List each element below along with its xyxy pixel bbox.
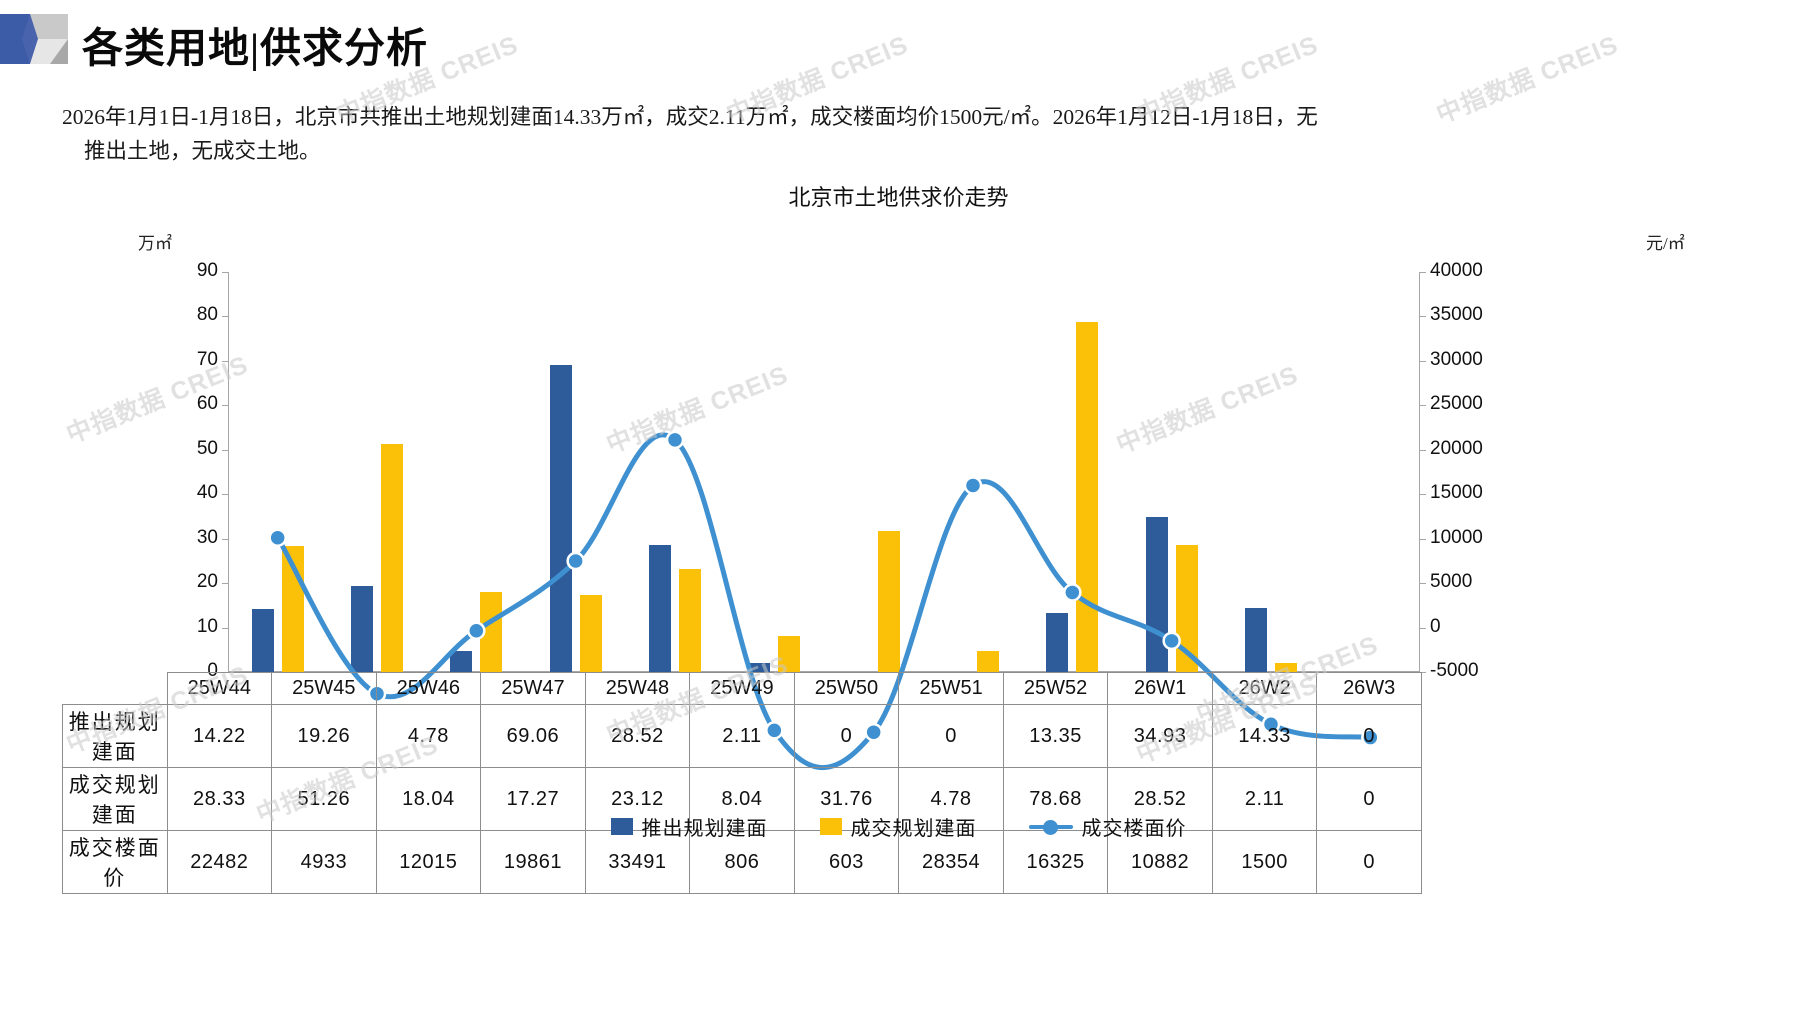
table-week-header: 26W2 [1212, 673, 1317, 705]
right-axis-tickmark [1420, 272, 1426, 273]
table-header-row: 25W4425W4525W4625W4725W4825W4925W5025W51… [63, 673, 1422, 705]
legend-label: 成交规划建面 [851, 812, 977, 841]
right-axis-tick-label: 35000 [1430, 304, 1570, 326]
table-week-header: 25W50 [794, 673, 899, 705]
left-axis-unit: 万㎡ [138, 229, 172, 254]
chart-legend: 推出规划建面成交规划建面成交楼面价 [0, 812, 1797, 841]
table-cell: 69.06 [481, 705, 586, 768]
table-week-header: 25W49 [690, 673, 795, 705]
summary-line-1: 2026年1月1日-1月18日，北京市共推出土地规划建面14.33万㎡，成交2.… [62, 105, 1318, 129]
table-cell: 28.52 [585, 705, 690, 768]
table-cell: 14.22 [167, 705, 272, 768]
table-cell: 4.78 [376, 705, 481, 768]
left-axis-tick-label: 70 [98, 349, 218, 371]
table-week-header: 26W1 [1108, 673, 1213, 705]
left-axis-tick-label: 20 [98, 571, 218, 593]
table-cell: 0 [1317, 705, 1422, 768]
right-axis-tick-label: -5000 [1430, 660, 1570, 682]
right-axis-unit: 元/㎡ [1646, 229, 1685, 254]
legend-item[interactable]: 推出规划建面 [611, 812, 768, 841]
table-week-header: 25W48 [585, 673, 690, 705]
left-axis-tick-label: 30 [98, 527, 218, 549]
legend-swatch-icon [611, 818, 633, 835]
right-axis-tick-label: 25000 [1430, 393, 1570, 415]
table-week-header: 25W46 [376, 673, 481, 705]
legend-label: 成交楼面价 [1082, 812, 1187, 841]
right-axis-tick-label: 30000 [1430, 349, 1570, 371]
table-cell: 13.35 [1003, 705, 1108, 768]
left-axis-tick-label: 90 [98, 260, 218, 282]
left-axis-tick-label: 80 [98, 304, 218, 326]
table-week-header: 26W3 [1317, 673, 1422, 705]
right-axis-tick-label: 40000 [1430, 260, 1570, 282]
table-cell: 0 [899, 705, 1004, 768]
table-week-header: 25W47 [481, 673, 586, 705]
right-axis-tick-label: 5000 [1430, 571, 1570, 593]
table-cell: 34.93 [1108, 705, 1213, 768]
price-line-marker [270, 530, 286, 546]
price-line-series [228, 162, 1420, 682]
legend-label: 推出规划建面 [642, 812, 768, 841]
summary-paragraph: 2026年1月1日-1月18日，北京市共推出土地规划建面14.33万㎡，成交2.… [62, 100, 1762, 168]
price-line-marker [468, 623, 484, 639]
table-week-header: 25W44 [167, 673, 272, 705]
table-cell: 2.11 [690, 705, 795, 768]
right-axis-tickmark [1420, 628, 1426, 629]
legend-item[interactable]: 成交楼面价 [1029, 812, 1187, 841]
right-axis-tick-label: 10000 [1430, 527, 1570, 549]
right-axis-tickmark [1420, 450, 1426, 451]
price-line-marker [1064, 584, 1080, 600]
right-axis-tickmark [1420, 539, 1426, 540]
left-axis-tick-label: 40 [98, 482, 218, 504]
table-row: 推出规划建面14.2219.264.7869.0628.522.110013.3… [63, 705, 1422, 768]
chart-plot-area: 0102030405060708090 -5000050001000015000… [228, 272, 1420, 672]
right-axis-tickmark [1420, 494, 1426, 495]
data-table: 25W4425W4525W4625W4725W4825W4925W5025W51… [62, 672, 1422, 894]
creis-logo [0, 14, 68, 64]
legend-item[interactable]: 成交规划建面 [820, 812, 977, 841]
table-week-header: 25W45 [272, 673, 377, 705]
right-axis-tickmark [1420, 583, 1426, 584]
left-axis-tick-label: 10 [98, 616, 218, 638]
right-axis-tickmark [1420, 316, 1426, 317]
table-row-label: 推出规划建面 [63, 705, 168, 768]
legend-line-marker-icon [1029, 819, 1073, 835]
table-cell: 0 [794, 705, 899, 768]
table-cell: 14.33 [1212, 705, 1317, 768]
right-axis-tick-label: 15000 [1430, 482, 1570, 504]
left-axis-tick-label: 60 [98, 393, 218, 415]
page-header: 各类用地|供求分析 [0, 0, 1797, 80]
price-line-marker [568, 553, 584, 569]
page-title: 各类用地|供求分析 [82, 14, 428, 74]
legend-swatch-icon [820, 818, 842, 835]
right-axis-tick-label: 20000 [1430, 438, 1570, 460]
price-line-marker [965, 478, 981, 494]
table-week-header: 25W51 [899, 673, 1004, 705]
right-axis-tickmark [1420, 361, 1426, 362]
table-week-header: 25W52 [1003, 673, 1108, 705]
right-axis-tick-label: 0 [1430, 616, 1570, 638]
table-cell: 19.26 [272, 705, 377, 768]
table-corner-cell [63, 673, 168, 705]
right-axis-tickmark [1420, 405, 1426, 406]
price-line-marker [667, 432, 683, 448]
price-line-marker [1164, 633, 1180, 649]
left-axis-tick-label: 50 [98, 438, 218, 460]
data-table-wrapper: 25W4425W4525W4625W4725W4825W4925W5025W51… [62, 672, 1422, 894]
